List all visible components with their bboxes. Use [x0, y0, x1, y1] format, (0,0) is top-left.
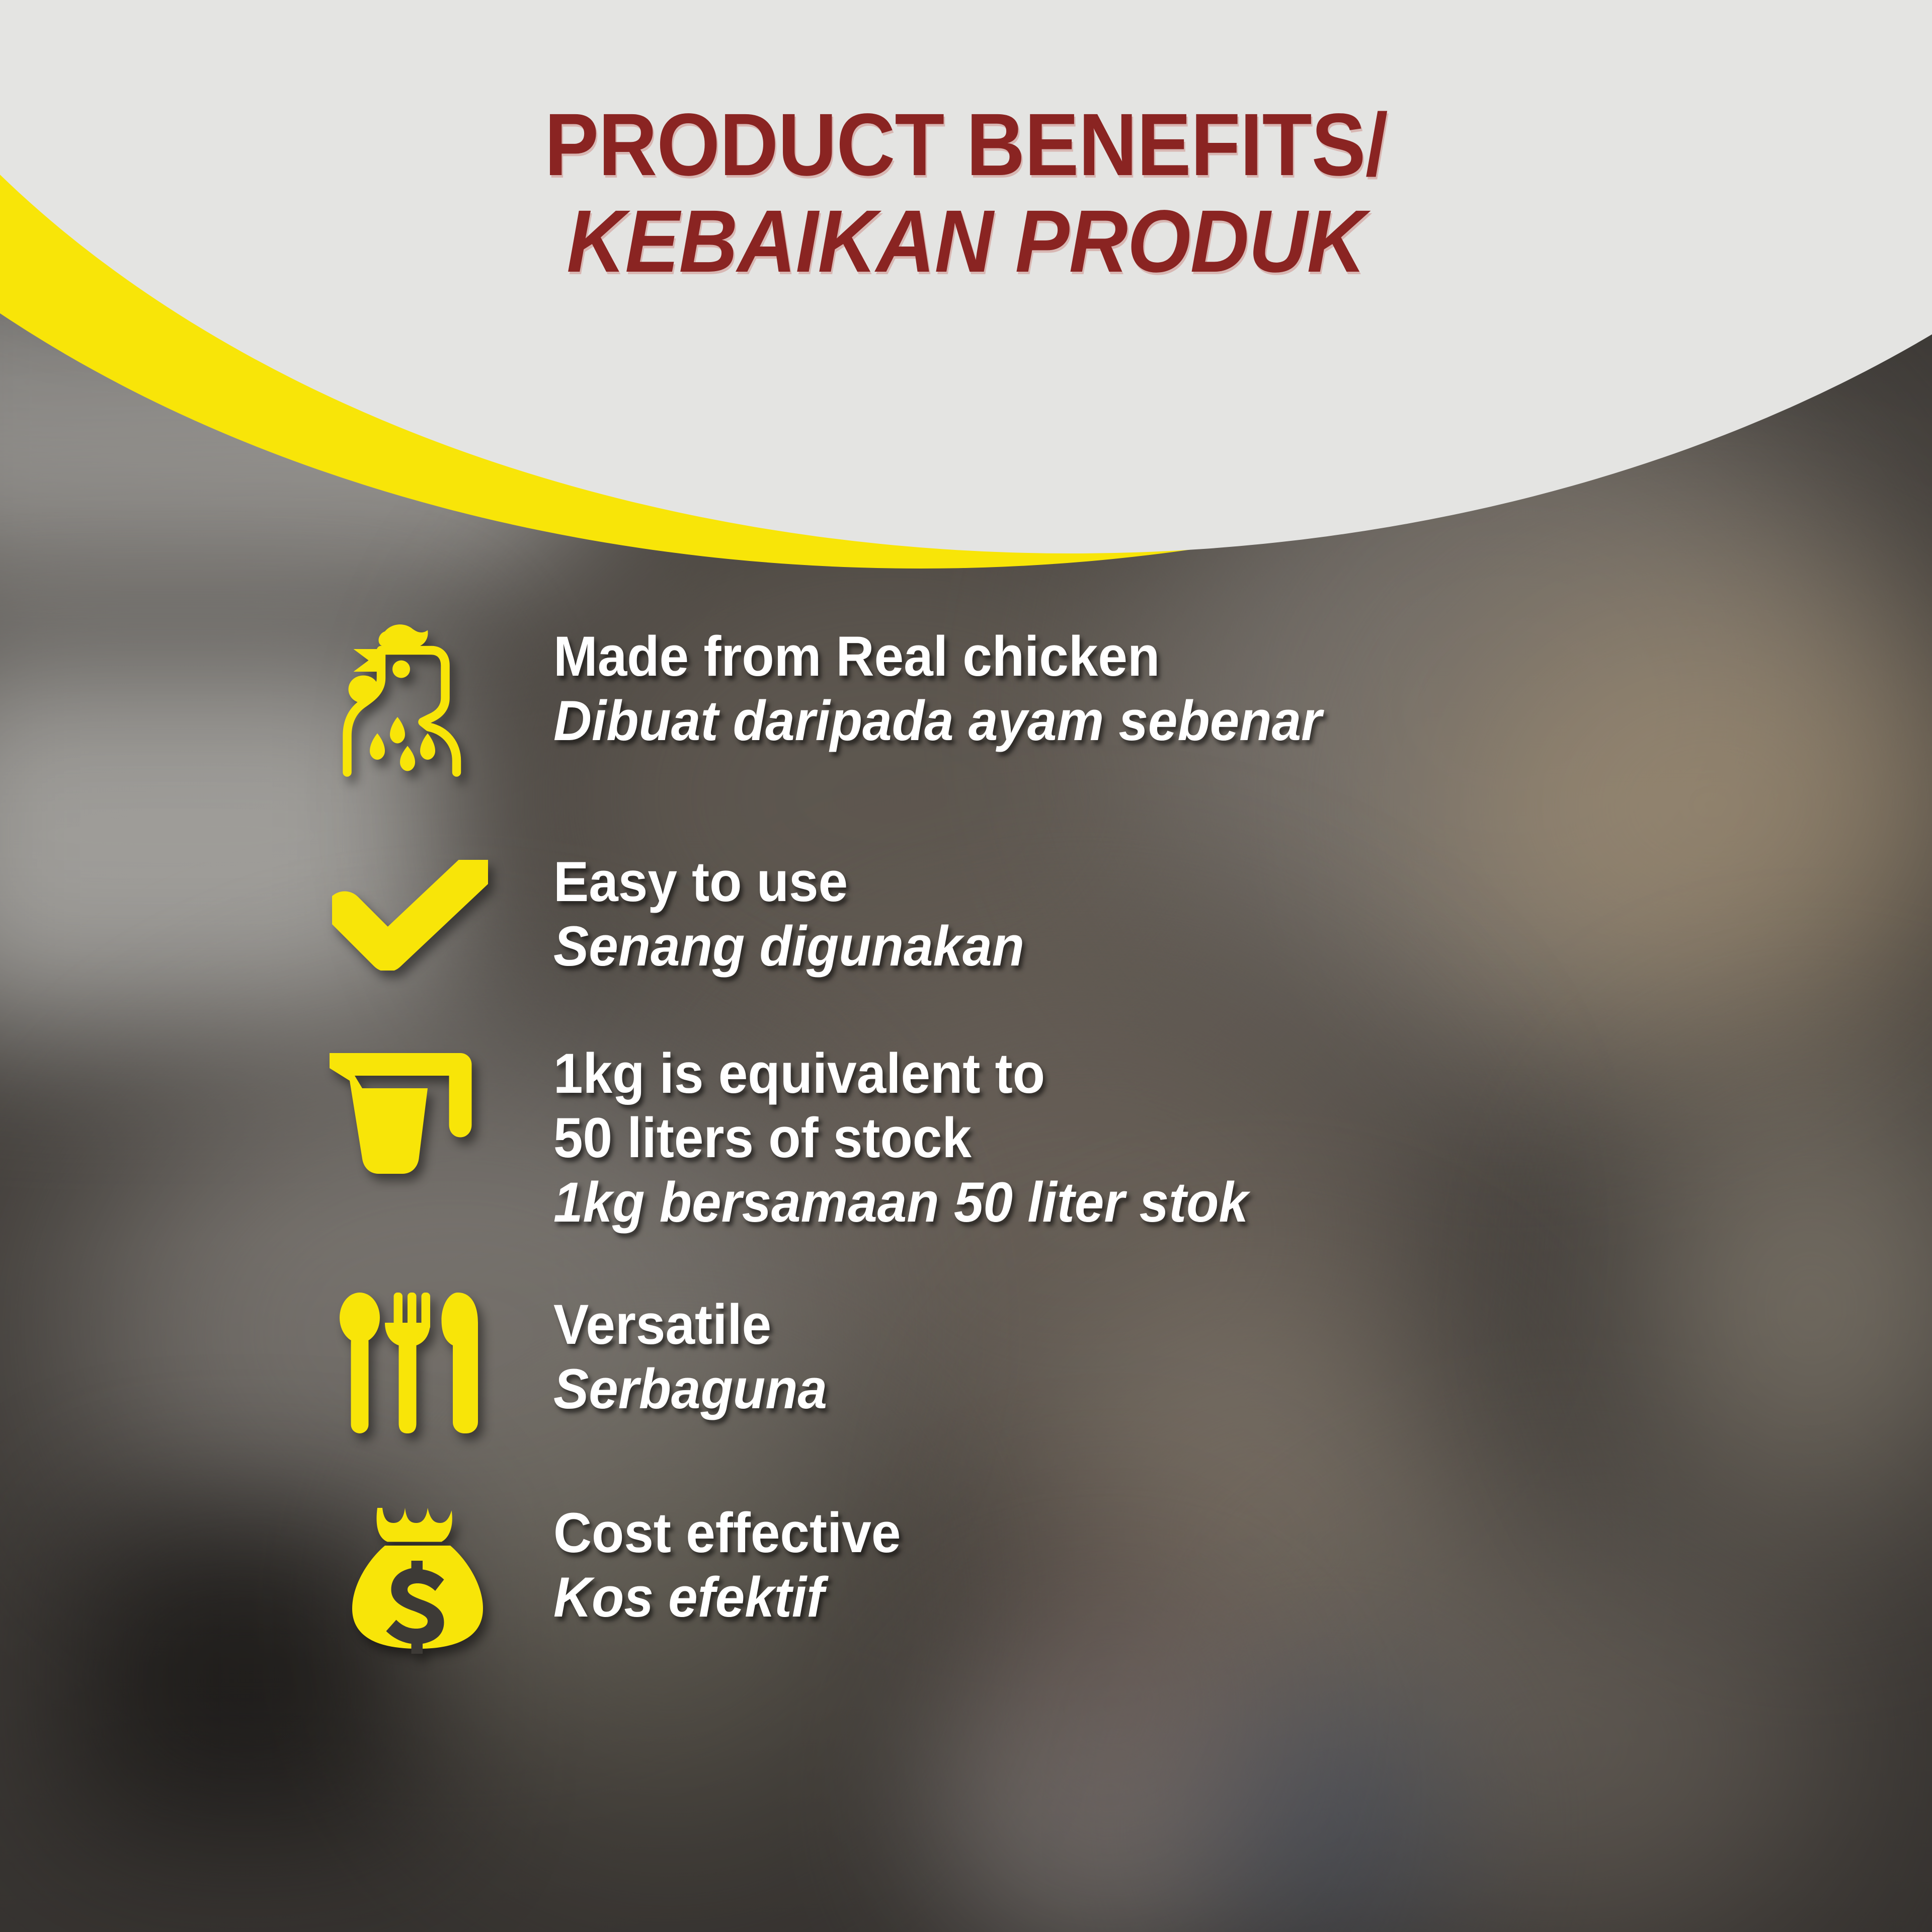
benefit-text-malay: Kos efektif — [553, 1565, 1849, 1630]
product-benefits-poster: PRODUCT BENEFITS/ KEBAIKAN PRODUK — [0, 0, 1932, 1932]
benefit-text: 1kg is equivalent to 50 liters of stock … — [553, 1038, 1932, 1234]
benefit-text: Cost effective Kos efektif — [553, 1498, 1932, 1629]
benefits-list: Made from Real chicken Dibuat daripada a… — [0, 621, 1932, 1671]
benefit-text: Versatile Serbaguna — [553, 1290, 1932, 1421]
benefit-text-malay: Dibuat daripada ayam sebenar — [553, 689, 1849, 753]
benefit-text: Easy to use Senang digunakan — [553, 847, 1932, 978]
measuring-jug-icon — [0, 1038, 553, 1186]
knife-shape — [442, 1293, 478, 1433]
header-curve-area — [0, 0, 1932, 604]
benefit-text-malay: Senang digunakan — [553, 914, 1849, 979]
benefit-row: Versatile Serbaguna — [0, 1290, 1932, 1438]
benefit-text: Made from Real chicken Dibuat daripada a… — [553, 621, 1932, 753]
benefit-row: Easy to use Senang digunakan — [0, 847, 1932, 978]
benefit-text-english: Cost effective — [553, 1501, 1849, 1565]
cutlery-icon — [0, 1290, 553, 1438]
title-line-malay: KEBAIKAN PRODUK — [77, 197, 1855, 286]
title-line-english: PRODUCT BENEFITS/ — [77, 101, 1855, 189]
benefit-text-english: Versatile — [553, 1293, 1849, 1357]
benefit-row: Made from Real chicken Dibuat daripada a… — [0, 621, 1932, 787]
benefit-text-malay: 1kg bersamaan 50 liter stok — [553, 1170, 1849, 1235]
spoon-shape — [340, 1293, 380, 1433]
checkmark-icon — [0, 847, 553, 971]
benefit-text-english: Made from Real chicken — [553, 624, 1849, 689]
benefit-text-english: Easy to use — [553, 850, 1849, 914]
benefit-row: 1kg is equivalent to 50 liters of stock … — [0, 1038, 1932, 1234]
page-title: PRODUCT BENEFITS/ KEBAIKAN PRODUK — [0, 101, 1932, 286]
benefit-text-malay: Serbaguna — [553, 1357, 1849, 1421]
benefit-text-english: 1kg is equivalent to 50 liters of stock — [553, 1041, 1849, 1170]
money-bag-icon — [0, 1498, 553, 1654]
fork-shape — [385, 1293, 430, 1433]
chicken-rooster-icon — [0, 621, 553, 787]
benefit-row: Cost effective Kos efektif — [0, 1498, 1932, 1654]
